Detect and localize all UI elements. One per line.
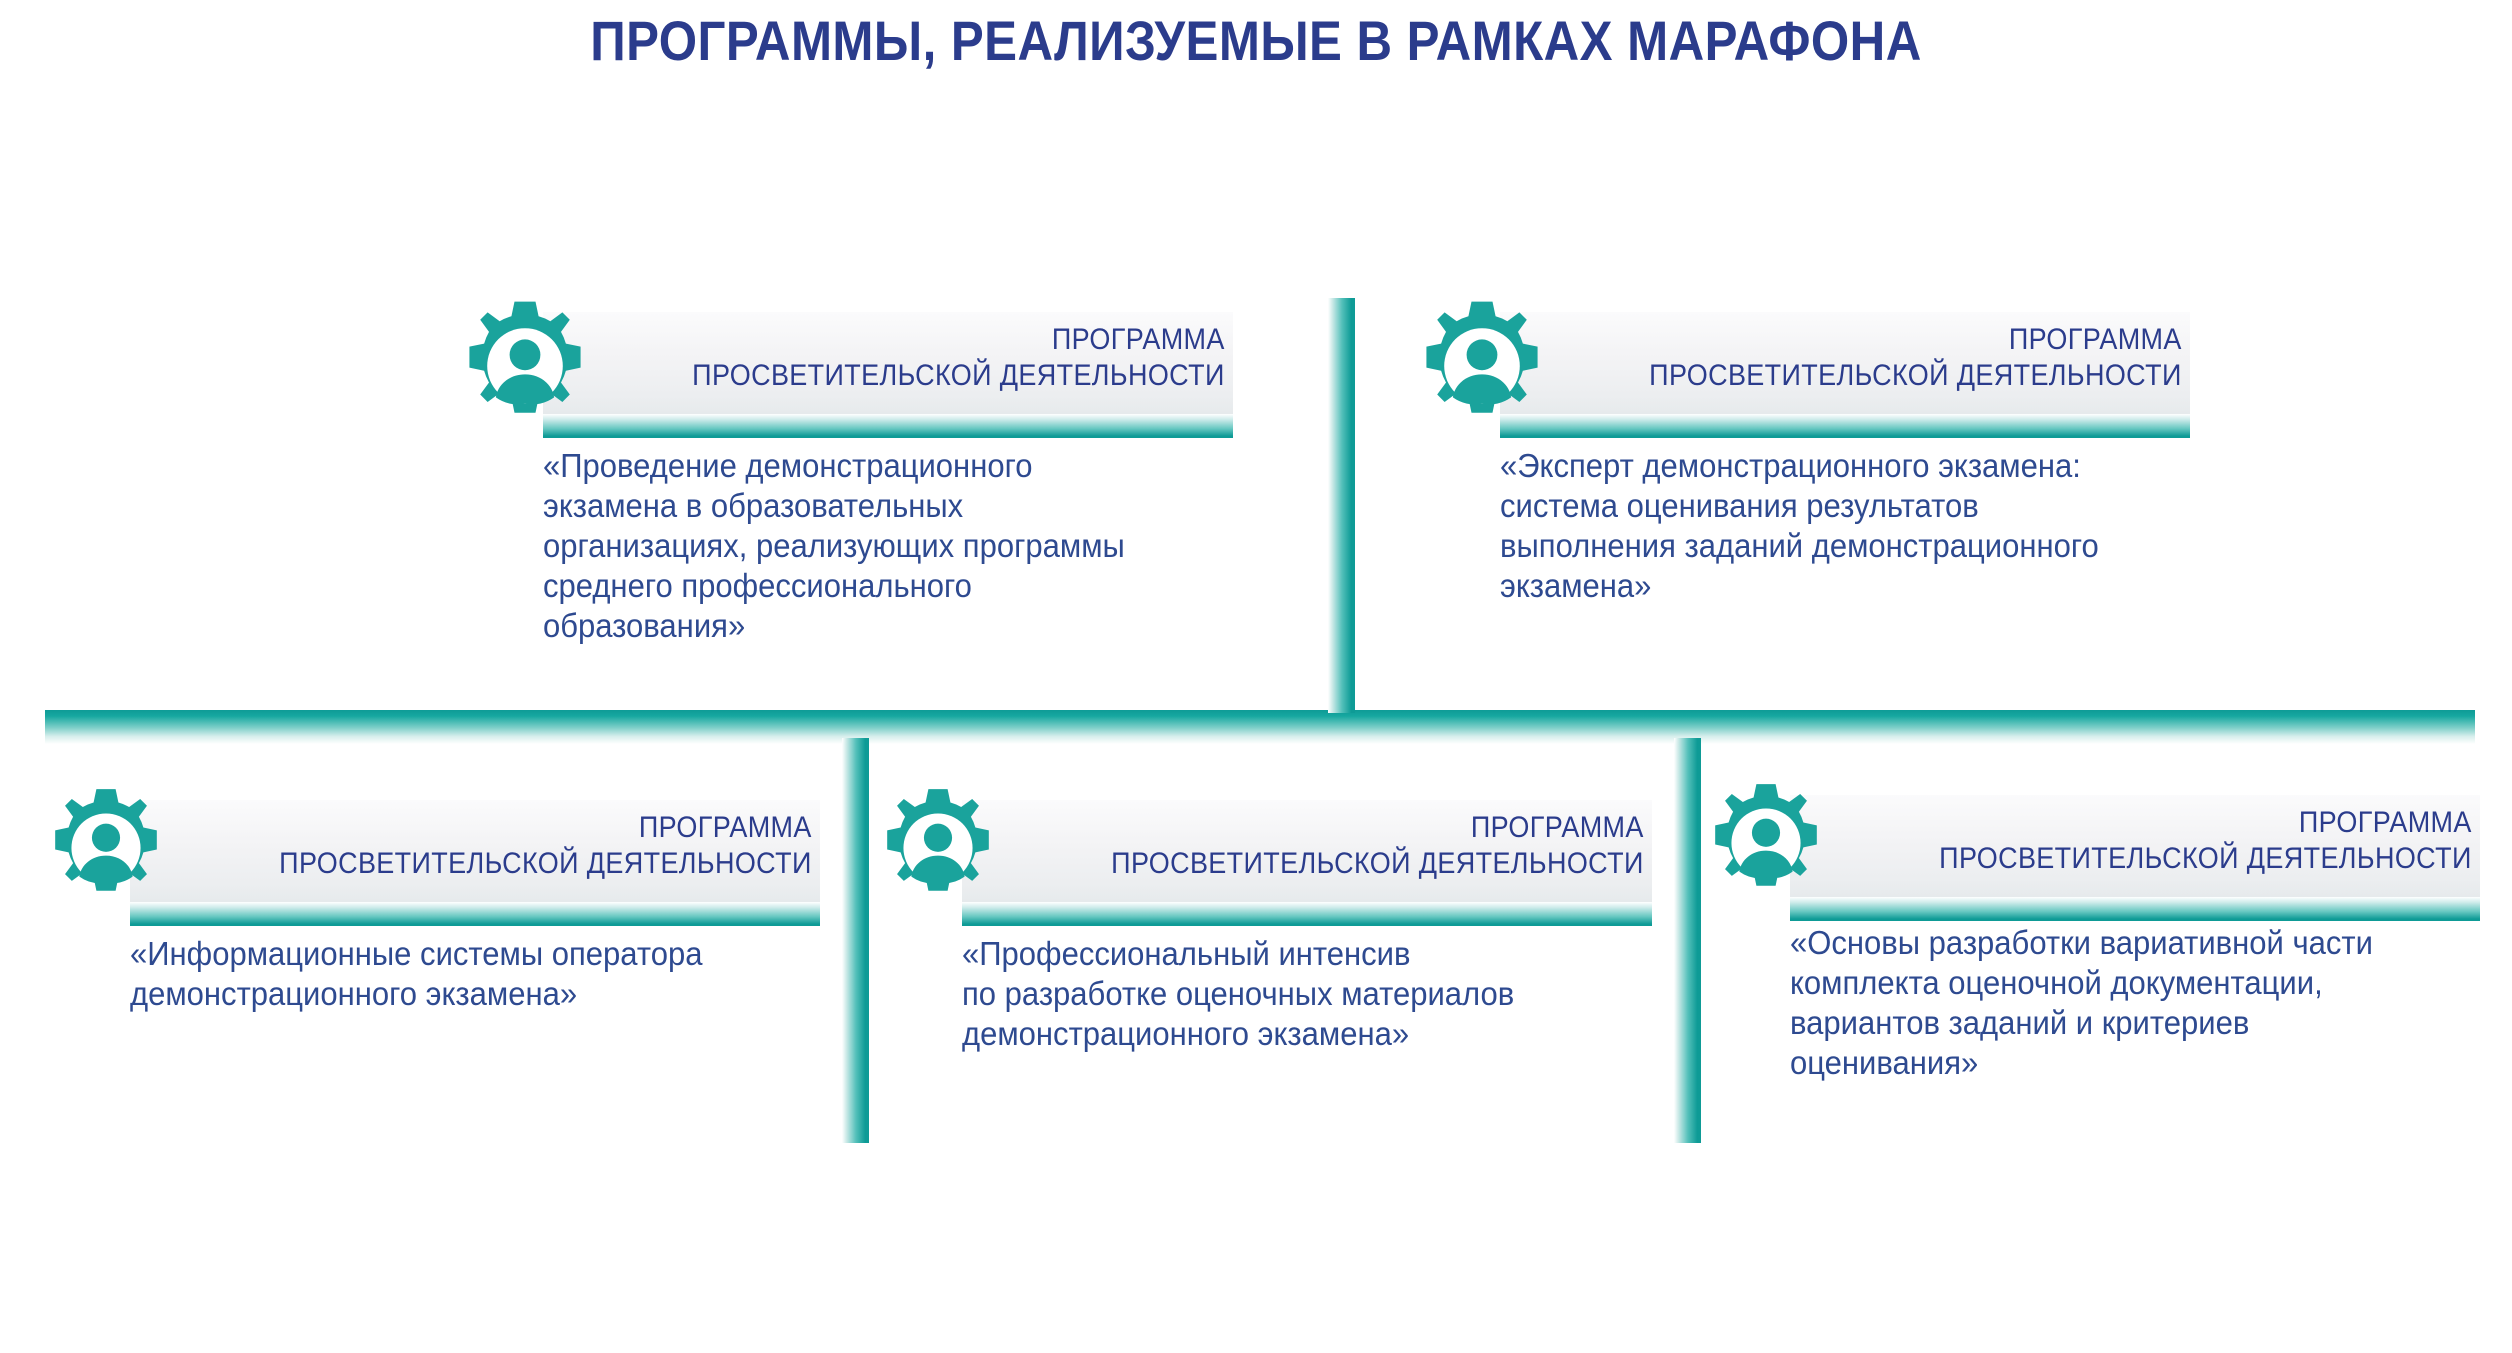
card-header-line2: ПРОСВЕТИТЕЛЬСКОЙ ДЕЯТЕЛЬНОСТИ bbox=[1649, 358, 2182, 394]
gear-person-icon bbox=[455, 296, 595, 436]
page-title: ПРОГРАММЫ, РЕАЛИЗУЕМЫЕ В РАМКАХ МАРАФОНА bbox=[151, 8, 2362, 73]
program-card-1[interactable]: ПРОГРАММА ПРОСВЕТИТЕЛЬСКОЙ ДЕЯТЕЛЬНОСТИ … bbox=[543, 312, 1233, 646]
program-card-2[interactable]: ПРОГРАММА ПРОСВЕТИТЕЛЬСКОЙ ДЕЯТЕЛЬНОСТИ … bbox=[1500, 312, 2190, 606]
stem-bottom-left bbox=[842, 738, 869, 1143]
card-underline bbox=[1790, 897, 2480, 921]
card-header: ПРОГРАММА ПРОСВЕТИТЕЛЬСКОЙ ДЕЯТЕЛЬНОСТИ bbox=[962, 800, 1652, 902]
stem-bottom-right bbox=[1674, 738, 1701, 1143]
card-header-line1: ПРОГРАММА bbox=[279, 810, 812, 846]
card-header-line1: ПРОГРАММА bbox=[1939, 805, 2472, 841]
gear-person-icon bbox=[1702, 779, 1830, 907]
card-header-line2: ПРОСВЕТИТЕЛЬСКОЙ ДЕЯТЕЛЬНОСТИ bbox=[1939, 841, 2472, 877]
card-underline bbox=[962, 902, 1652, 926]
card-body-text: «Основы разработки вариативной части ком… bbox=[1790, 923, 2439, 1083]
card-header: ПРОГРАММА ПРОСВЕТИТЕЛЬСКОЙ ДЕЯТЕЛЬНОСТИ bbox=[1500, 312, 2190, 414]
card-header-line2: ПРОСВЕТИТЕЛЬСКОЙ ДЕЯТЕЛЬНОСТИ bbox=[279, 846, 812, 882]
card-header-line1: ПРОГРАММА bbox=[692, 322, 1225, 358]
card-underline bbox=[543, 414, 1233, 438]
card-header-label: ПРОГРАММА ПРОСВЕТИТЕЛЬСКОЙ ДЕЯТЕЛЬНОСТИ bbox=[1111, 810, 1644, 882]
card-body-text: «Информационные системы оператора демонс… bbox=[130, 934, 779, 1014]
program-card-5[interactable]: ПРОГРАММА ПРОСВЕТИТЕЛЬСКОЙ ДЕЯТЕЛЬНОСТИ … bbox=[1790, 795, 2480, 1083]
card-header-label: ПРОГРАММА ПРОСВЕТИТЕЛЬСКОЙ ДЕЯТЕЛЬНОСТИ bbox=[692, 322, 1225, 394]
card-body-text: «Эксперт демонстрационного экзамена: сис… bbox=[1500, 446, 2149, 606]
card-header-line1: ПРОГРАММА bbox=[1649, 322, 2182, 358]
card-header-label: ПРОГРАММА ПРОСВЕТИТЕЛЬСКОЙ ДЕЯТЕЛЬНОСТИ bbox=[279, 810, 812, 882]
gear-person-icon bbox=[42, 784, 170, 912]
card-header-line2: ПРОСВЕТИТЕЛЬСКОЙ ДЕЯТЕЛЬНОСТИ bbox=[1111, 846, 1644, 882]
card-header: ПРОГРАММА ПРОСВЕТИТЕЛЬСКОЙ ДЕЯТЕЛЬНОСТИ bbox=[1790, 795, 2480, 897]
card-header-line2: ПРОСВЕТИТЕЛЬСКОЙ ДЕЯТЕЛЬНОСТИ bbox=[692, 358, 1225, 394]
card-header-line1: ПРОГРАММА bbox=[1111, 810, 1644, 846]
card-header: ПРОГРАММА ПРОСВЕТИТЕЛЬСКОЙ ДЕЯТЕЛЬНОСТИ bbox=[130, 800, 820, 902]
card-underline bbox=[130, 902, 820, 926]
stem-top-center bbox=[1328, 298, 1355, 713]
slide-canvas: ПРОГРАММЫ, РЕАЛИЗУЕМЫЕ В РАМКАХ МАРАФОНА… bbox=[0, 0, 2512, 1353]
spine-horizontal bbox=[45, 710, 2475, 744]
card-body-text: «Проведение демонстрационного экзамена в… bbox=[543, 446, 1192, 646]
card-body-text: «Профессиональный интенсив по разработке… bbox=[962, 934, 1611, 1054]
gear-person-icon bbox=[1412, 296, 1552, 436]
card-header: ПРОГРАММА ПРОСВЕТИТЕЛЬСКОЙ ДЕЯТЕЛЬНОСТИ bbox=[543, 312, 1233, 414]
gear-person-icon bbox=[874, 784, 1002, 912]
program-card-3[interactable]: ПРОГРАММА ПРОСВЕТИТЕЛЬСКОЙ ДЕЯТЕЛЬНОСТИ … bbox=[130, 800, 820, 1014]
card-header-label: ПРОГРАММА ПРОСВЕТИТЕЛЬСКОЙ ДЕЯТЕЛЬНОСТИ bbox=[1939, 805, 2472, 877]
program-card-4[interactable]: ПРОГРАММА ПРОСВЕТИТЕЛЬСКОЙ ДЕЯТЕЛЬНОСТИ … bbox=[962, 800, 1652, 1054]
card-underline bbox=[1500, 414, 2190, 438]
card-header-label: ПРОГРАММА ПРОСВЕТИТЕЛЬСКОЙ ДЕЯТЕЛЬНОСТИ bbox=[1649, 322, 2182, 394]
